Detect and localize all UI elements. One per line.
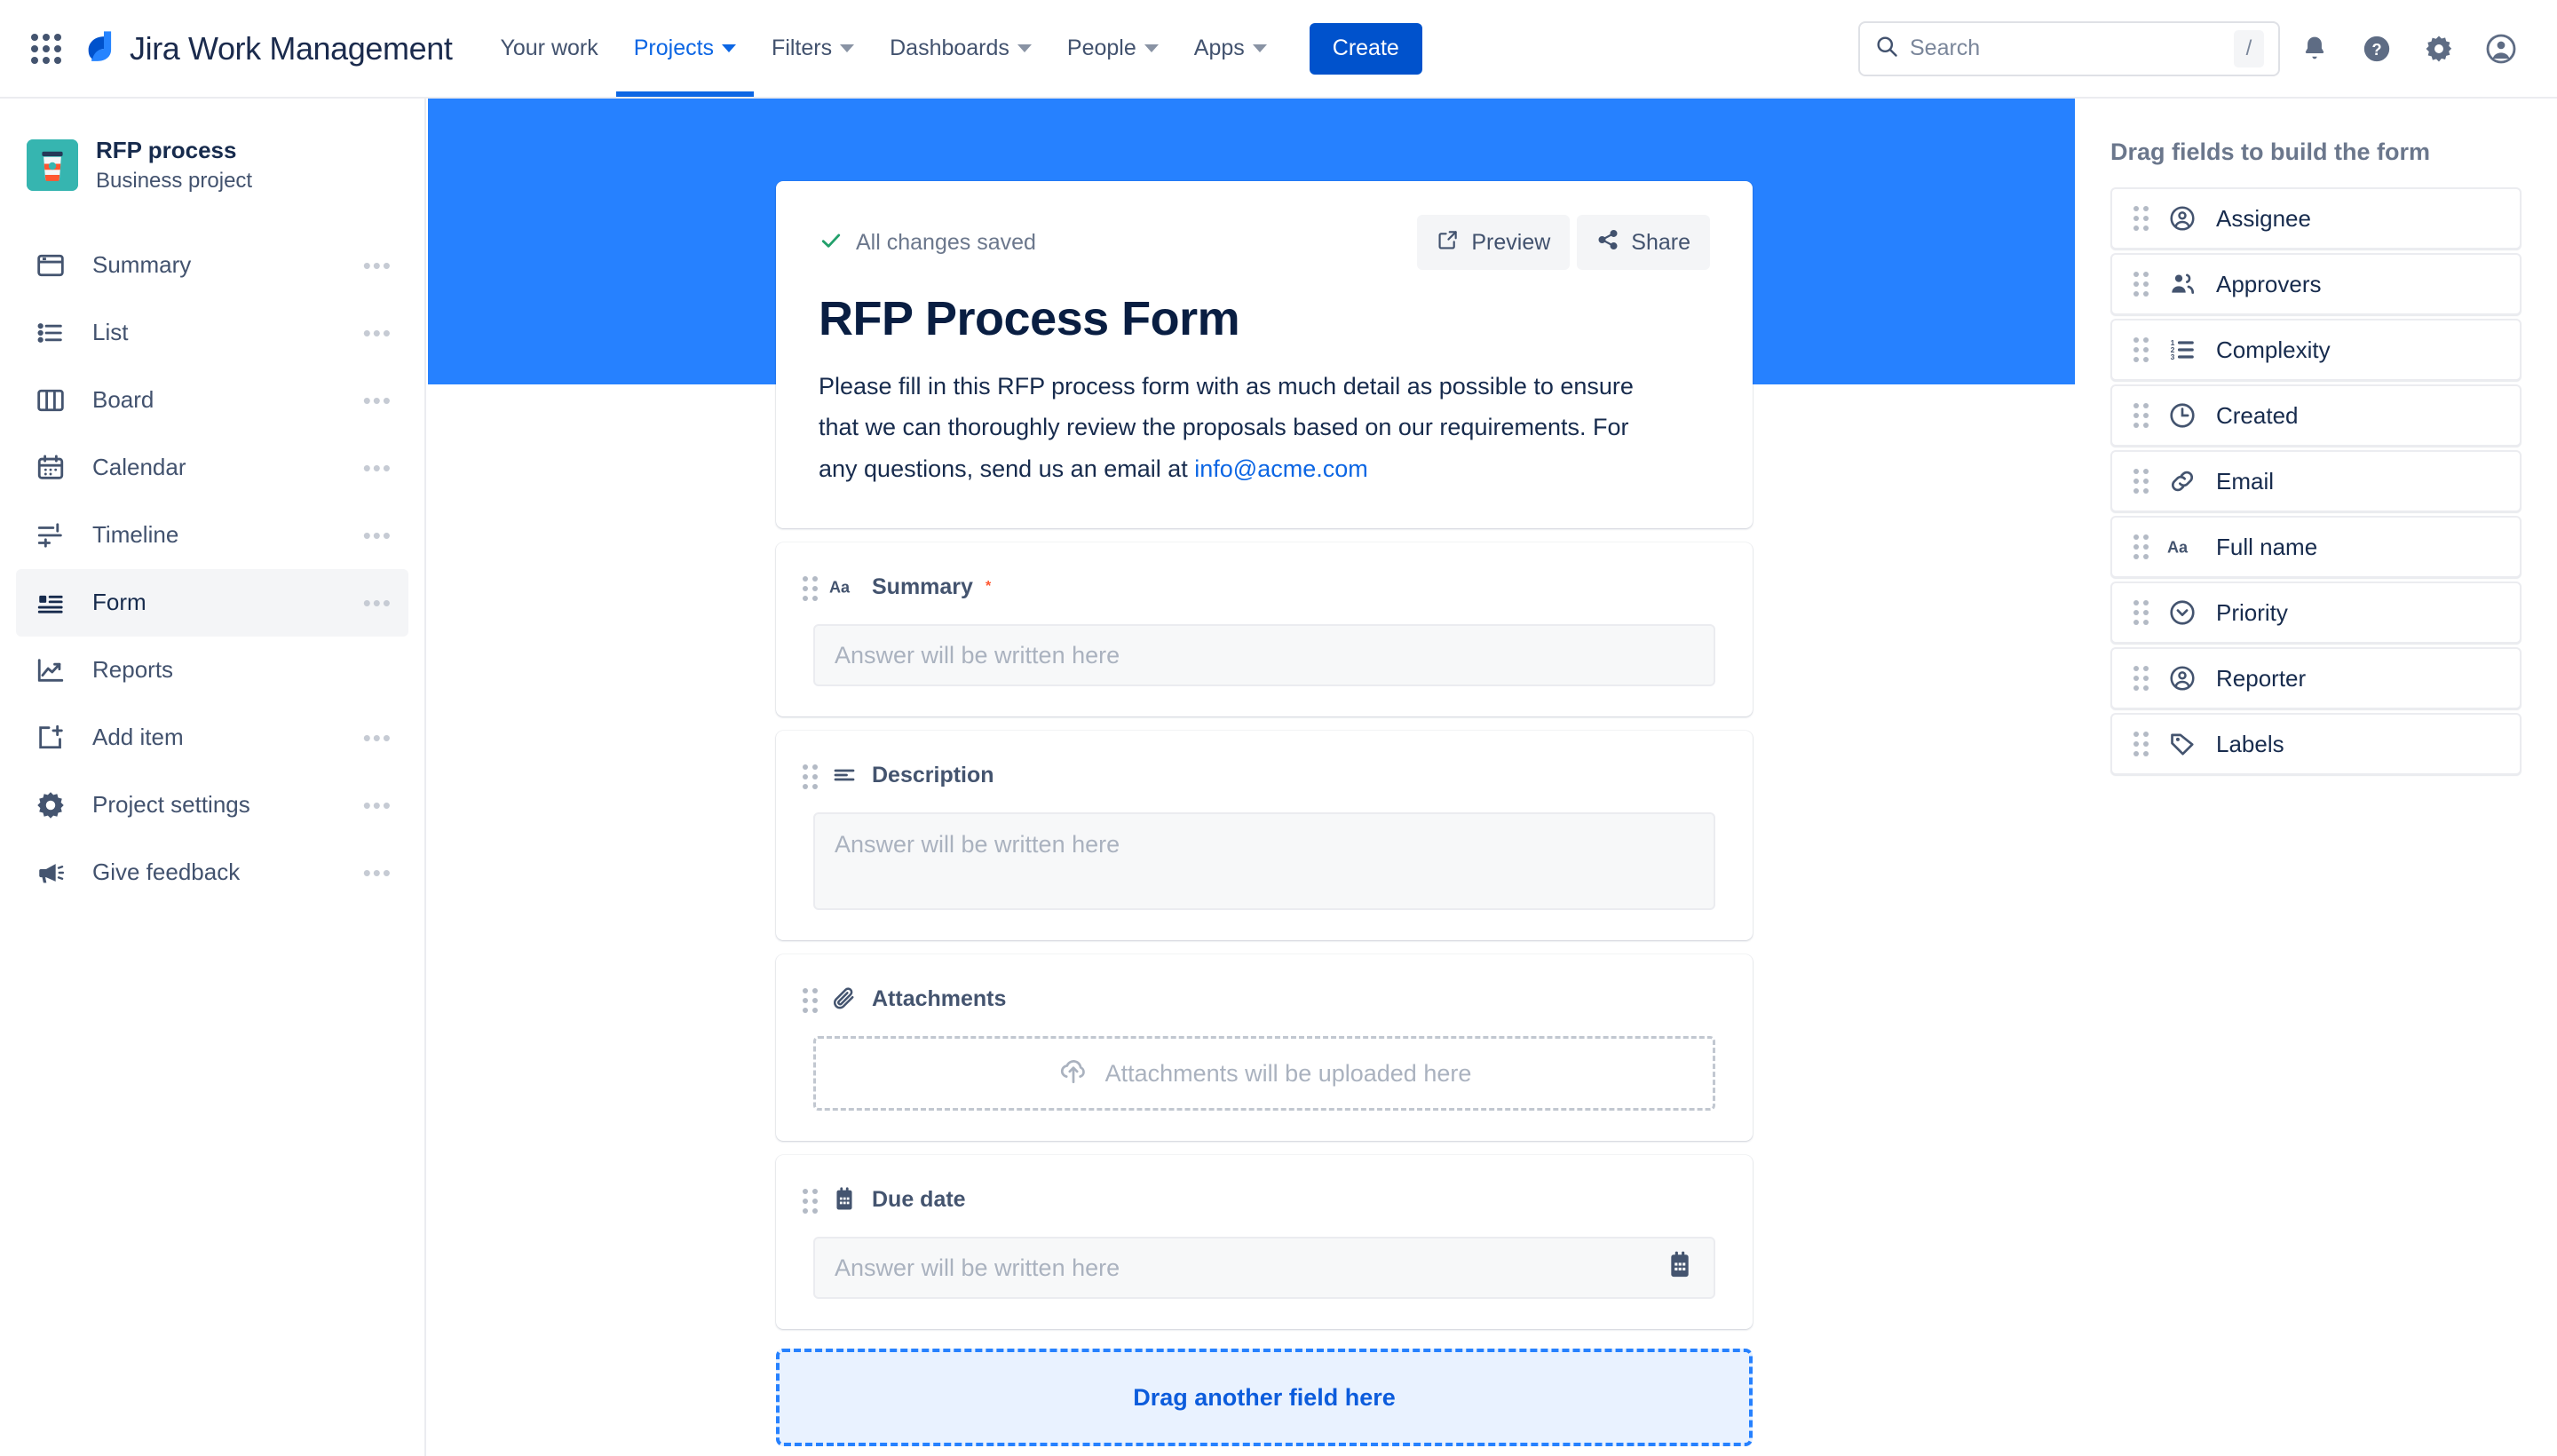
account-avatar-icon[interactable] (2474, 21, 2529, 76)
nav-label: Dashboards (890, 36, 1009, 61)
svg-text:?: ? (2371, 40, 2381, 59)
save-status-text: All changes saved (856, 230, 1036, 256)
board-icon (32, 382, 69, 419)
form-field-due-date[interactable]: Due date Answer will be written here (776, 1155, 1753, 1329)
clock-icon (2166, 400, 2198, 431)
paragraph-icon (829, 760, 859, 790)
nav-item-people[interactable]: People (1049, 0, 1176, 97)
jira-logo-icon (87, 29, 121, 68)
person-circle-icon (2166, 662, 2198, 694)
field-header: Aa Summary * (813, 569, 1715, 605)
chevron-down-icon (1144, 44, 1159, 52)
drag-handle-icon[interactable] (2133, 206, 2149, 231)
form-field-attachments[interactable]: Attachments Attachments will be uploaded… (776, 954, 1753, 1141)
nav-item-projects[interactable]: Projects (616, 0, 754, 97)
numbered-list-icon: 1 2 3 (2166, 334, 2198, 366)
app-switcher-icon[interactable] (27, 29, 66, 68)
project-type: Business project (96, 167, 252, 194)
library-field-priority[interactable]: Priority (2110, 582, 2521, 644)
sidebar-item-label: Timeline (92, 521, 178, 549)
nav-label: Your work (500, 36, 598, 61)
attachment-dropzone[interactable]: Attachments will be uploaded here (813, 1036, 1715, 1111)
external-link-icon (1437, 228, 1460, 257)
search-icon (1874, 34, 1899, 63)
field-library-title: Drag fields to build the form (2110, 138, 2521, 166)
nav-label: Projects (634, 36, 714, 61)
nav-label: People (1067, 36, 1136, 61)
answer-placeholder: Answer will be written here (835, 831, 1120, 859)
sidebar-item-label: Summary (92, 251, 191, 279)
more-actions-icon[interactable]: ••• (363, 456, 392, 479)
library-field-label: Priority (2216, 599, 2288, 627)
chevron-down-icon (1253, 44, 1267, 52)
check-icon (819, 228, 843, 257)
drag-handle-icon[interactable] (803, 1189, 818, 1214)
library-field-label: Approvers (2216, 271, 2322, 298)
more-actions-icon[interactable]: ••• (363, 524, 392, 547)
drag-handle-icon[interactable] (2133, 403, 2149, 428)
nav-item-apps[interactable]: Apps (1176, 0, 1285, 97)
drag-handle-icon[interactable] (803, 764, 818, 789)
due-date-input[interactable]: Answer will be written here (813, 1237, 1715, 1299)
sidebar-item-label: Form (92, 589, 146, 616)
summary-input[interactable]: Answer will be written here (813, 624, 1715, 686)
more-actions-icon[interactable]: ••• (363, 861, 392, 884)
tag-icon (2166, 728, 2198, 760)
library-field-approvers[interactable]: Approvers (2110, 253, 2521, 315)
svg-text:3: 3 (2171, 352, 2175, 361)
sidebar-item-project-settings[interactable]: Project settings ••• (16, 772, 408, 839)
contact-email-link[interactable]: info@acme.com (1194, 455, 1367, 482)
more-actions-icon[interactable]: ••• (363, 794, 392, 817)
project-settings-icon (32, 787, 69, 824)
share-button[interactable]: Share (1577, 215, 1710, 270)
create-button[interactable]: Create (1310, 23, 1422, 75)
field-header: Due date (813, 1182, 1715, 1217)
calendar-alt-icon (829, 1184, 859, 1215)
notifications-bell-icon[interactable] (2287, 21, 2342, 76)
more-actions-icon[interactable]: ••• (363, 726, 392, 749)
library-field-assignee[interactable]: Assignee (2110, 187, 2521, 249)
field-library-panel: Drag fields to build the form Assignee A… (2075, 99, 2557, 1456)
primary-nav: Your work Projects Filters Dashboards Pe… (482, 0, 1284, 97)
sidebar-item-calendar[interactable]: Calendar ••• (16, 434, 408, 502)
drag-handle-icon[interactable] (2133, 666, 2149, 691)
more-actions-icon[interactable]: ••• (363, 591, 392, 614)
drag-handle-icon[interactable] (2133, 337, 2149, 362)
drag-handle-icon[interactable] (2133, 732, 2149, 756)
settings-gear-icon[interactable] (2411, 21, 2466, 76)
library-field-labels[interactable]: Labels (2110, 713, 2521, 775)
form-builder-canvas: All changes saved Preview (428, 99, 2075, 1456)
people-group-icon (2166, 268, 2198, 300)
add-item-icon (32, 719, 69, 756)
library-field-reporter[interactable]: Reporter (2110, 647, 2521, 709)
sidebar-item-label: Project settings (92, 791, 250, 819)
form-header-toolbar: All changes saved Preview (819, 215, 1710, 270)
paperclip-icon (829, 984, 859, 1014)
sidebar-item-summary[interactable]: Summary ••• (16, 232, 408, 299)
library-field-complexity[interactable]: 1 2 3 Complexity (2110, 319, 2521, 381)
sidebar-item-timeline[interactable]: Timeline ••• (16, 502, 408, 569)
drag-handle-icon[interactable] (2133, 272, 2149, 297)
person-circle-icon (2166, 202, 2198, 234)
required-asterisk: * (986, 579, 991, 595)
field-label: Summary (872, 574, 973, 600)
svg-text:Aa: Aa (829, 579, 851, 597)
project-header[interactable]: RFP process Business project (0, 125, 424, 205)
brand-title: Jira Work Management (130, 30, 452, 67)
share-button-label: Share (1631, 230, 1690, 256)
form-icon (32, 584, 69, 621)
sidebar-item-list[interactable]: List ••• (16, 299, 408, 367)
field-label: Description (872, 763, 994, 788)
new-field-dropzone[interactable]: Drag another field here (776, 1349, 1753, 1446)
library-field-label: Assignee (2216, 205, 2311, 233)
more-actions-icon[interactable]: ••• (363, 389, 392, 412)
form-field-summary[interactable]: Aa Summary * Answer will be written here (776, 542, 1753, 716)
library-field-label: Labels (2216, 731, 2284, 758)
chevron-down-icon (840, 44, 854, 52)
sidebar-item-reports[interactable]: Reports (16, 637, 408, 704)
library-field-label: Created (2216, 402, 2299, 430)
nav-item-dashboards[interactable]: Dashboards (872, 0, 1049, 97)
sidebar-item-label: Reports (92, 656, 173, 684)
project-sidebar: RFP process Business project Summary •••… (0, 99, 426, 1456)
form-description[interactable]: Please fill in this RFP process form wit… (819, 366, 1653, 489)
library-field-label: Reporter (2216, 665, 2306, 692)
sidebar-item-add-item[interactable]: Add item ••• (16, 704, 408, 772)
form-title[interactable]: RFP Process Form (819, 291, 1710, 346)
form-header-card: All changes saved Preview (776, 181, 1753, 528)
chevron-down-icon (722, 44, 736, 52)
top-navigation-bar: Jira Work Management Your work Projects … (0, 0, 2557, 99)
search-placeholder: Search (1910, 36, 2223, 61)
search-input[interactable]: Search / (1858, 21, 2280, 76)
answer-placeholder: Answer will be written here (835, 642, 1120, 669)
link-icon (2166, 465, 2198, 497)
nav-item-filters[interactable]: Filters (754, 0, 872, 97)
field-header: Attachments (813, 981, 1715, 1017)
library-field-created[interactable]: Created (2110, 384, 2521, 447)
megaphone-icon (32, 854, 69, 891)
nav-item-your-work[interactable]: Your work (482, 0, 615, 97)
more-actions-icon[interactable]: ••• (363, 321, 392, 344)
sidebar-item-give-feedback[interactable]: Give feedback ••• (16, 839, 408, 906)
timeline-icon (32, 517, 69, 554)
sidebar-nav-list: Summary ••• List ••• Board ••• (0, 232, 424, 906)
brand-home-link[interactable]: Jira Work Management (87, 29, 452, 68)
share-icon (1596, 228, 1619, 257)
preview-button-label: Preview (1471, 230, 1550, 256)
library-field-label: Complexity (2216, 336, 2331, 364)
project-avatar (27, 139, 78, 191)
field-label: Due date (872, 1187, 966, 1213)
reports-icon (32, 652, 69, 689)
text-aa-icon: Aa (2166, 531, 2198, 563)
drag-handle-icon[interactable] (803, 576, 818, 601)
form-field-description[interactable]: Description Answer will be written here (776, 731, 1753, 940)
sidebar-item-form[interactable]: Form ••• (16, 569, 408, 637)
drag-handle-icon[interactable] (2133, 469, 2149, 494)
nav-label: Apps (1194, 36, 1245, 61)
calendar-picker-icon[interactable] (1666, 1250, 1694, 1286)
field-header: Description (813, 757, 1715, 793)
svg-text:Aa: Aa (2167, 538, 2189, 556)
library-field-full-name[interactable]: Aa Full name (2110, 516, 2521, 578)
chevron-circle-down-icon (2166, 597, 2198, 629)
list-icon (32, 314, 69, 352)
summary-icon (32, 247, 69, 284)
text-aa-icon: Aa (829, 572, 859, 602)
sidebar-item-label: Add item (92, 724, 184, 751)
save-status: All changes saved (819, 228, 1036, 257)
project-name: RFP process (96, 136, 252, 165)
sidebar-item-label: Give feedback (92, 859, 240, 886)
search-shortcut-badge: / (2234, 30, 2264, 67)
answer-placeholder: Answer will be written here (835, 1254, 1120, 1282)
drag-handle-icon[interactable] (2133, 600, 2149, 625)
preview-button[interactable]: Preview (1417, 215, 1570, 270)
form-actions: Preview Share (1417, 215, 1710, 270)
attachment-placeholder: Attachments will be uploaded here (1105, 1060, 1472, 1088)
sidebar-item-label: Calendar (92, 454, 186, 481)
drag-handle-icon[interactable] (803, 988, 818, 1013)
sidebar-item-label: List (92, 319, 128, 346)
chevron-down-icon (1017, 44, 1032, 52)
more-actions-icon[interactable]: ••• (363, 254, 392, 277)
library-field-label: Email (2216, 468, 2274, 495)
field-label: Attachments (872, 986, 1006, 1012)
sidebar-item-label: Board (92, 386, 154, 414)
drag-handle-icon[interactable] (2133, 534, 2149, 559)
nav-right-cluster: Search / ? (1858, 21, 2557, 76)
description-input[interactable]: Answer will be written here (813, 812, 1715, 910)
library-field-label: Full name (2216, 534, 2317, 561)
calendar-icon (32, 449, 69, 487)
form-preview-column: All changes saved Preview (776, 99, 1753, 1446)
sidebar-item-board[interactable]: Board ••• (16, 367, 408, 434)
help-icon[interactable]: ? (2349, 21, 2404, 76)
upload-cloud-icon (1057, 1055, 1089, 1093)
library-field-email[interactable]: Email (2110, 450, 2521, 512)
nav-label: Filters (772, 36, 832, 61)
